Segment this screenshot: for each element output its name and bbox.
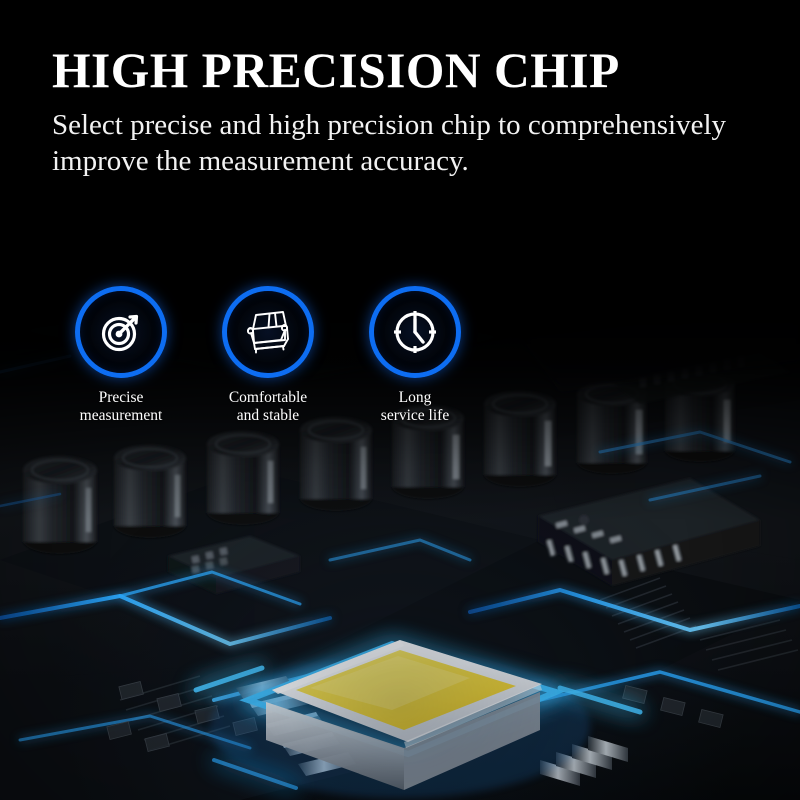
- feature-label-2: Comfortable and stable: [229, 389, 307, 426]
- clock-icon: [390, 307, 440, 357]
- sofa-icon: [243, 309, 293, 355]
- header-block: HIGH PRECISION CHIP Select precise and h…: [52, 44, 762, 180]
- feature-icon-ring-1: [75, 286, 167, 378]
- product-feature-poster: HIGH PRECISION CHIP Select precise and h…: [0, 0, 800, 800]
- target-arrow-icon: [97, 308, 145, 356]
- feature-label-1: Precise measurement: [80, 389, 163, 426]
- feature-list: Precise measurement: [56, 286, 480, 426]
- feature-item-comfortable-and-stable: Comfortable and stable: [203, 286, 333, 426]
- feature-label-3: Long service life: [381, 389, 449, 426]
- page-subtitle: Select precise and high precision chip t…: [52, 108, 762, 180]
- feature-item-long-service-life: Long service life: [350, 286, 480, 426]
- feature-icon-ring-3: [369, 286, 461, 378]
- page-title: HIGH PRECISION CHIP: [52, 44, 755, 96]
- feature-icon-ring-2: [222, 286, 314, 378]
- feature-item-precise-measurement: Precise measurement: [56, 286, 186, 426]
